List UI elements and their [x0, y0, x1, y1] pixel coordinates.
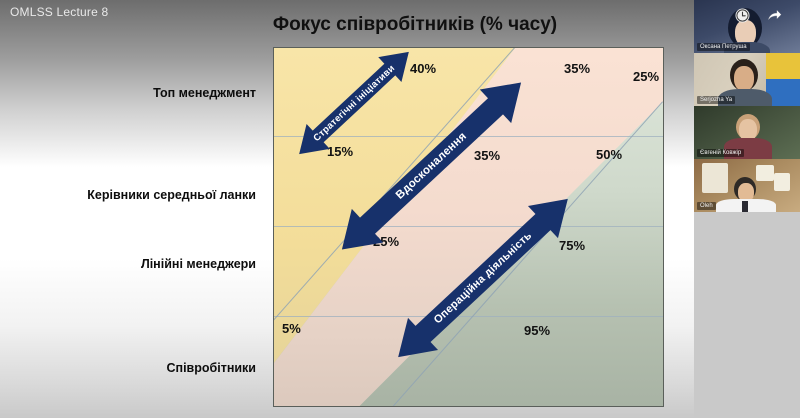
chart-title: Фокус співробітників (% часу) — [150, 14, 680, 36]
video-participants-panel: Оксана Петруша Serjozha Ya Євгеній Ковжі… — [694, 0, 800, 418]
value-label: 75% — [559, 238, 585, 253]
presentation-slide: OMLSS Lecture 8 Фокус співробітників (% … — [0, 0, 694, 418]
value-label: 25% — [633, 69, 659, 84]
panel-empty-area — [694, 212, 800, 418]
category-label-line-managers: Лінійні менеджери — [141, 257, 256, 271]
category-label-top-management: Топ менеджмент — [153, 86, 256, 100]
value-label: 50% — [596, 147, 622, 162]
participant-name: Serjozha Ya — [697, 96, 735, 104]
value-label: 35% — [564, 61, 590, 76]
category-label-middle-managers: Керівники середньої ланки — [87, 188, 256, 202]
value-label: 95% — [524, 323, 550, 338]
participant-name: Оксана Петруша — [697, 43, 750, 51]
participant-tile[interactable]: Oleh — [694, 159, 800, 212]
deck-title: OMLSS Lecture 8 — [10, 5, 108, 19]
value-label: 5% — [282, 321, 301, 336]
participant-name: Євгеній Ковжір — [697, 149, 744, 157]
category-label-employees: Співробітники — [167, 361, 257, 375]
participant-name: Oleh — [697, 202, 716, 210]
clock-icon[interactable] — [735, 8, 750, 23]
chart-plot-area: 40% 35% 25% 15% 35% 50% 25% 75% 5% 95% С… — [273, 47, 664, 407]
participant-tile[interactable]: Serjozha Ya — [694, 53, 800, 106]
participant-tile[interactable]: Євгеній Ковжір — [694, 106, 800, 159]
share-icon[interactable] — [767, 8, 782, 23]
